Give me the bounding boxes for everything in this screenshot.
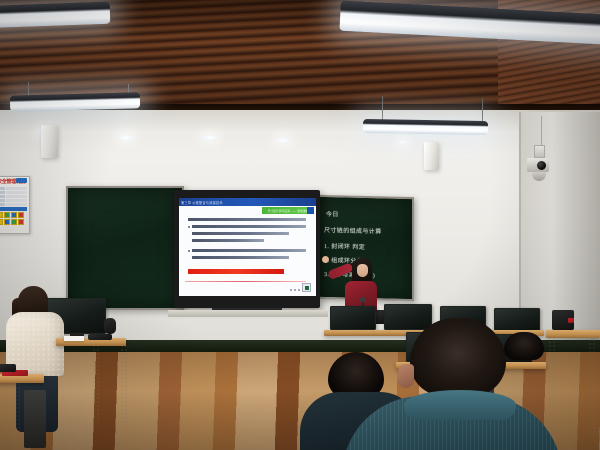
poster-pictogram: [0, 212, 3, 218]
slide-bullet: [188, 225, 308, 246]
safety-notice-poster: 安全管理制度: [0, 176, 30, 234]
slide-corner-chip: [307, 207, 314, 214]
qr-code-icon: [302, 283, 311, 292]
downlight: [118, 134, 134, 141]
classroom-photo: 安全管理制度 今日 尺寸链的组成与计算 1. 封闭环 判定 2. 组成环分类 3…: [0, 0, 600, 450]
student-foreground-center: [352, 318, 587, 450]
ceiling-light-front-left: [0, 2, 110, 29]
chalk-line: 尺寸链的组成与计算: [324, 225, 382, 235]
head-hair: [410, 318, 506, 396]
sweater-collar: [404, 390, 516, 420]
wall-soffit: [0, 110, 600, 134]
ceiling-light-back-right: [363, 119, 488, 135]
poster-pictogram: [4, 212, 10, 218]
wall-speaker-right: [424, 142, 439, 170]
downlight: [275, 137, 291, 144]
desk-leg: [92, 344, 101, 422]
whiteboard-ledge: [168, 310, 328, 317]
desk-leg: [10, 382, 20, 450]
camera-lens-icon: [537, 161, 546, 170]
ear: [398, 364, 414, 388]
poster-rows: [0, 187, 27, 206]
slide-header-bar: 第三章 公差配合与测量技术: [179, 198, 316, 206]
teacher-face: [357, 264, 368, 277]
chalk-line: 1. 封闭环 判定: [324, 241, 365, 251]
camera-cable: [541, 116, 542, 146]
poster-row: [0, 187, 27, 190]
projector-display[interactable]: 第三章 公差配合与测量技术 尺寸链计算与应用 —— 课堂讲解: [174, 190, 320, 308]
light-hanger: [382, 96, 383, 122]
microphone: [360, 297, 366, 302]
slide-body: [179, 206, 316, 274]
poster-divider: [0, 207, 27, 211]
camera-mount: [534, 145, 545, 158]
slide-playback-controls[interactable]: [290, 289, 301, 292]
slide-highlight-text: [188, 269, 284, 274]
poster-pictogram: [11, 212, 17, 218]
slide-intro-line: [188, 218, 306, 221]
slide-header-text: 第三章 公差配合与测量技术: [181, 200, 223, 205]
ceiling-light-back-left: [10, 92, 140, 111]
light-hanger: [28, 82, 29, 96]
stool: [24, 390, 46, 448]
poster-badge: [16, 178, 27, 183]
poster-row: [0, 199, 27, 202]
slide-footer-rule: [185, 281, 306, 282]
bullet-dot-icon: [188, 226, 190, 228]
poster-pictogram-grid: [0, 212, 27, 225]
black-item: [0, 364, 16, 372]
chalk-line: 今日: [326, 209, 339, 218]
keyboard: [88, 334, 112, 340]
wall-speaker-left: [41, 125, 58, 158]
blackboard-left: [66, 186, 184, 310]
slide-screen: 第三章 公差配合与测量技术 尺寸链计算与应用 —— 课堂讲解: [179, 198, 316, 296]
poster-row: [0, 195, 27, 198]
poster-row: [0, 191, 27, 194]
poster-row: [0, 203, 27, 206]
downlight: [398, 140, 407, 144]
speaker-desk: [104, 318, 116, 334]
poster-pictogram: [11, 219, 17, 225]
poster-pictogram: [18, 219, 24, 225]
desk-leg: [588, 338, 597, 438]
slide-banner-text: 尺寸链计算与应用 —— 课堂讲解: [268, 209, 309, 213]
downlight: [202, 134, 218, 141]
poster-pictogram: [4, 219, 10, 225]
slide-bullet: [188, 249, 308, 263]
poster-pictogram: [18, 212, 24, 218]
desk-leg: [120, 344, 129, 424]
paper-on-desk: [64, 336, 84, 341]
teacher-hand: [322, 256, 329, 263]
poster-pictogram: [0, 219, 3, 225]
light-hanger: [482, 98, 483, 122]
bullet-dot-icon: [188, 250, 190, 252]
